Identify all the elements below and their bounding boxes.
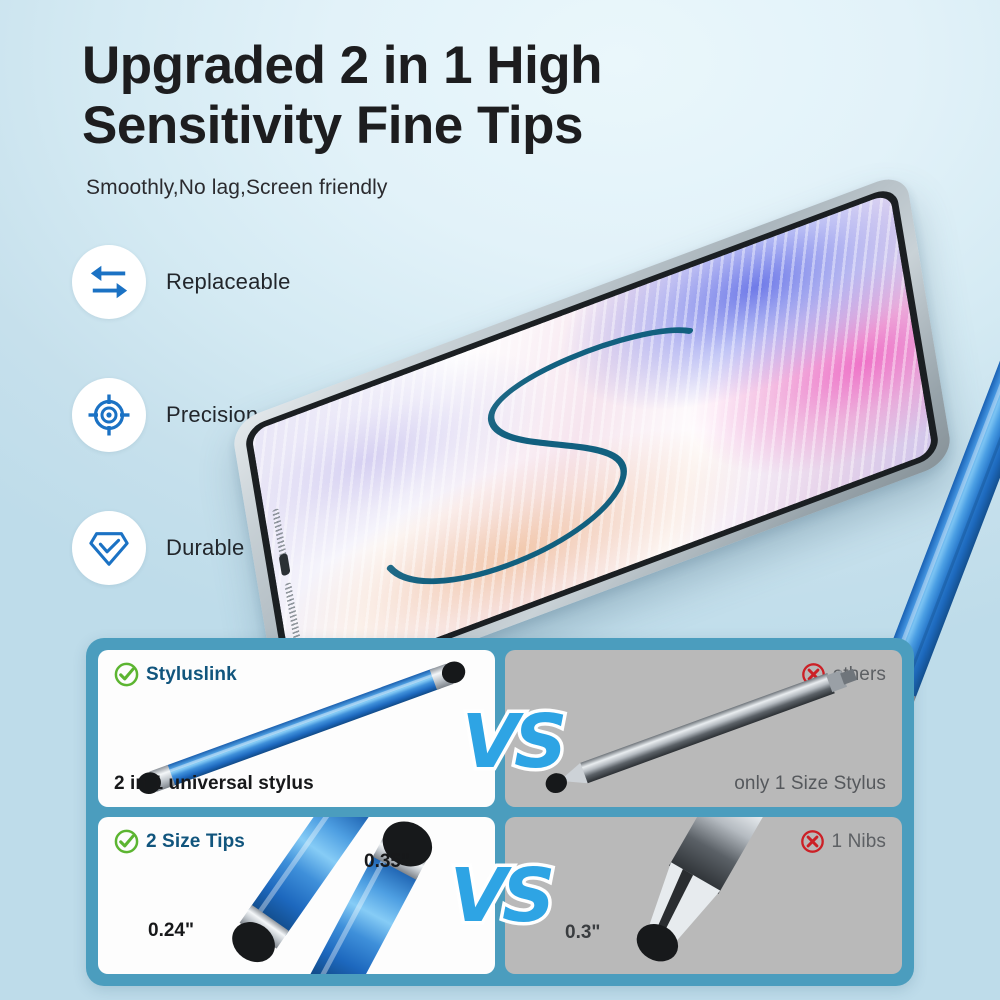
comparison-card-bad-row2: 1 Nibs 0.3": [505, 817, 902, 974]
page-subtitle: Smoothly,No lag,Screen friendly: [86, 176, 388, 200]
title-line-1: Upgraded 2 in 1 High: [82, 36, 602, 95]
title-line-2: Sensitivity Fine Tips: [82, 96, 722, 156]
caption-bad: only 1 Size Stylus: [734, 773, 886, 795]
measurement-small-tip: 0.24": [148, 920, 194, 942]
comparison-panel: Styluslink: [86, 638, 914, 986]
feature-item-precision: Precision: [72, 378, 258, 452]
silver-stylus-single-tip-image: [505, 817, 902, 974]
page-title: Upgraded 2 in 1 High Sensitivity Fine Ti…: [82, 36, 722, 157]
feature-item-durable: Durable: [72, 511, 244, 585]
product-infographic: Upgraded 2 in 1 High Sensitivity Fine Ti…: [0, 0, 1000, 1000]
feature-icon-disc: [72, 245, 146, 319]
diamond-check-icon: [88, 527, 130, 569]
hero-device-group: [232, 262, 992, 642]
comparison-card-bad-row1: others: [505, 650, 902, 807]
feature-icon-disc: [72, 378, 146, 452]
measurement-large-tip: 0.35": [364, 851, 410, 873]
measurement-single-tip: 0.3": [565, 922, 600, 944]
crosshair-target-icon: [87, 393, 131, 437]
comparison-card-good-row2: 2 Size Tips 0.24" 0.35": [98, 817, 495, 974]
feature-icon-disc: [72, 511, 146, 585]
comparison-card-good-row1: Styluslink: [98, 650, 495, 807]
blue-stylus-two-tips-image: [98, 817, 495, 974]
exchange-arrows-icon: [88, 261, 130, 303]
caption-good: 2 in 1 universal stylus: [114, 773, 314, 795]
